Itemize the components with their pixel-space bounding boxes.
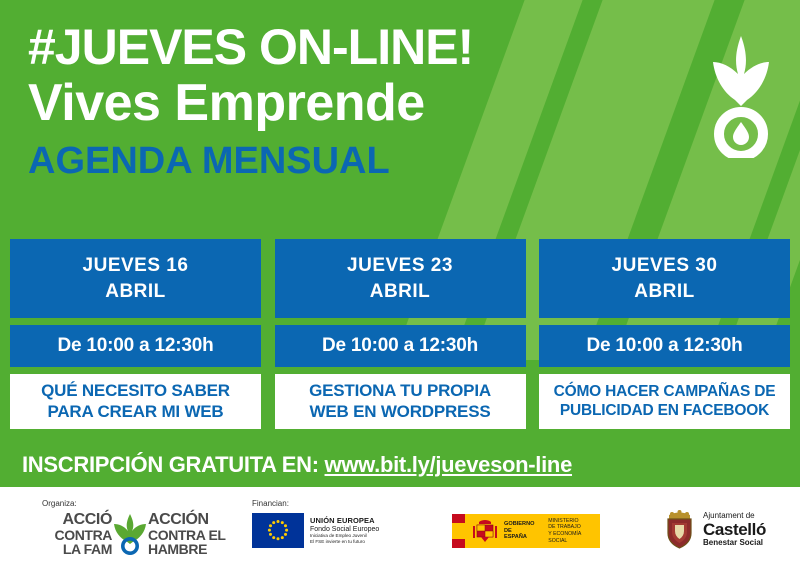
gobierno-line2: DE ESPAÑA [504, 528, 535, 542]
registration-label: INSCRIPCIÓN GRATUITA EN: [22, 452, 319, 477]
session-column: JUEVES 23 ABRIL De 10:00 a 12:30h GESTIO… [275, 239, 526, 445]
session-day: JUEVES 30 [612, 255, 718, 277]
eu-line4: El FSE invierte en tu futuro [310, 539, 379, 544]
eu-flag-icon [252, 513, 304, 548]
session-title-line1: CÓMO HACER CAMPAÑAS DE [554, 383, 776, 401]
spain-flag-strip-icon [452, 514, 465, 548]
eu-text-block: UNIÓN EUROPEA Fondo Social Europeo Inici… [310, 517, 379, 544]
session-day: JUEVES 23 [347, 255, 453, 277]
organiza-caption: Organiza: [42, 499, 77, 508]
ach-esp-line2: CONTRA EL [148, 528, 232, 542]
sponsor-footer: Organiza: Financian: ACCIÓ CONTRA LA FAM… [0, 487, 800, 565]
gobierno-de-espana-logo: GOBIERNO DE ESPAÑA MINISTERIO DE TRABAJO… [452, 514, 600, 548]
session-title-line1: QUÉ NECESITO SABER [41, 381, 230, 401]
headline-primary: #JUEVES ON-LINE! [28, 22, 718, 73]
session-date-box: JUEVES 16 ABRIL [10, 239, 261, 318]
session-title-line2: PARA CREAR MI WEB [47, 402, 223, 422]
session-time-box: De 10:00 a 12:30h [275, 325, 526, 367]
ach-esp-line1: ACCIÓN [148, 512, 232, 528]
session-title-line2: WEB EN WORDPRESS [310, 402, 491, 422]
poster: #JUEVES ON-LINE! Vives Emprende AGENDA M… [0, 0, 800, 565]
session-columns: JUEVES 16 ABRIL De 10:00 a 12:30h QUÉ NE… [0, 239, 800, 445]
session-time-box: De 10:00 a 12:30h [10, 325, 261, 367]
session-day: JUEVES 16 [83, 255, 189, 277]
poster-background: #JUEVES ON-LINE! Vives Emprende AGENDA M… [0, 0, 800, 487]
ach-leaf-ring-icon [112, 513, 148, 555]
gobierno-line1: GOBIERNO [504, 521, 535, 528]
ach-cat-line3: LA FAM [28, 542, 112, 556]
gobierno-body: GOBIERNO DE ESPAÑA MINISTERIO DE TRABAJO… [465, 514, 600, 548]
ach-cat-line2: CONTRA [28, 528, 112, 542]
gobierno-text-block: GOBIERNO DE ESPAÑA [504, 521, 535, 542]
session-column: JUEVES 16 ABRIL De 10:00 a 12:30h QUÉ NE… [10, 239, 261, 445]
ministerio-text-block: MINISTERIO DE TRABAJO Y ECONOMÍA SOCIAL [548, 518, 600, 545]
headline-subtitle: AGENDA MENSUAL [28, 141, 718, 183]
session-title-box: CÓMO HACER CAMPAÑAS DE PUBLICIDAD EN FAC… [539, 374, 790, 429]
registration-line: INSCRIPCIÓN GRATUITA EN: www.bit.ly/juev… [22, 452, 572, 478]
ajuntament-castello-logo: Ajuntament de Castelló Benestar Social [663, 509, 766, 551]
ach-cat-line1: ACCIÓ [28, 512, 112, 528]
session-month: ABRIL [105, 281, 166, 303]
financian-caption: Financian: [252, 499, 289, 508]
session-title-box: QUÉ NECESITO SABER PARA CREAR MI WEB [10, 374, 261, 429]
session-title-box: GESTIONA TU PROPIA WEB EN WORDPRESS [275, 374, 526, 429]
ach-esp-line3: HAMBRE [148, 542, 232, 556]
accion-contra-el-hambre-logo: ACCIÓ CONTRA LA FAM ACCIÓN CONTRA EL HAM… [28, 513, 234, 555]
ministerio-line2: DE TRABAJO [548, 524, 600, 531]
session-month: ABRIL [370, 281, 431, 303]
session-column: JUEVES 30 ABRIL De 10:00 a 12:30h CÓMO H… [539, 239, 790, 445]
ministerio-line1: MINISTERIO [548, 518, 600, 525]
ach-spanish-text: ACCIÓN CONTRA EL HAMBRE [148, 512, 232, 556]
accion-contra-el-hambre-icon [705, 30, 777, 158]
spain-coat-of-arms-icon [471, 518, 499, 544]
castello-coat-of-arms-icon [663, 509, 696, 551]
registration-url-link[interactable]: www.bit.ly/jueveson-line [325, 452, 572, 477]
union-europea-logo: UNIÓN EUROPEA Fondo Social Europeo Inici… [252, 513, 379, 548]
poster-header: #JUEVES ON-LINE! Vives Emprende AGENDA M… [28, 22, 718, 183]
castello-line2: Castelló [703, 521, 766, 539]
ach-catalan-text: ACCIÓ CONTRA LA FAM [28, 512, 112, 556]
castello-text-block: Ajuntament de Castelló Benestar Social [703, 512, 766, 548]
castello-line3: Benestar Social [703, 539, 766, 548]
session-date-box: JUEVES 30 ABRIL [539, 239, 790, 318]
eu-line2: Fondo Social Europeo [310, 526, 379, 534]
eu-line1: UNIÓN EUROPEA [310, 517, 379, 525]
session-date-box: JUEVES 23 ABRIL [275, 239, 526, 318]
session-month: ABRIL [634, 281, 695, 303]
session-title-line2: PUBLICIDAD EN FACEBOOK [560, 402, 769, 420]
headline-secondary: Vives Emprende [28, 75, 718, 131]
session-title-line1: GESTIONA TU PROPIA [309, 381, 491, 401]
ministerio-line3: Y ECONOMÍA SOCIAL [548, 531, 600, 545]
session-time-box: De 10:00 a 12:30h [539, 325, 790, 367]
